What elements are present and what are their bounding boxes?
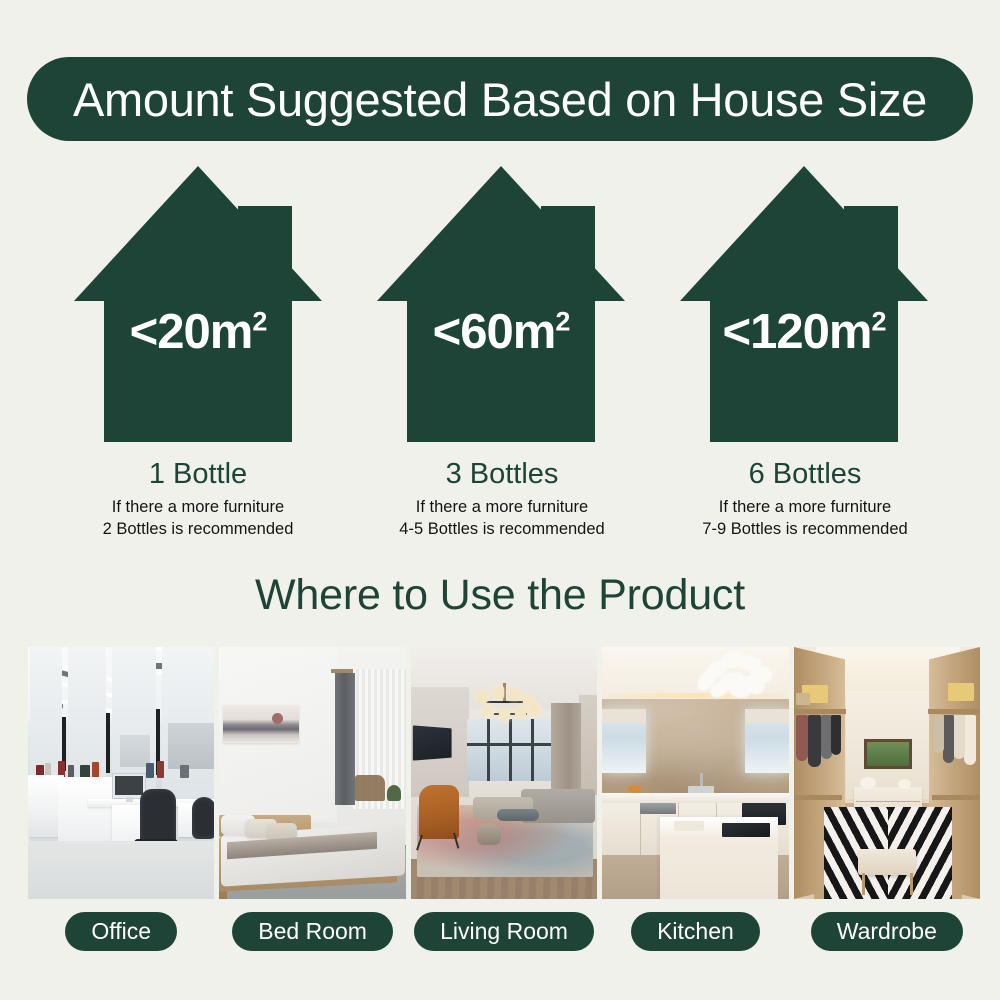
bottle-note-line2-2: 4-5 Bottles is recommended xyxy=(337,519,667,541)
room-label-cell-office: Office xyxy=(28,911,214,951)
room-pill-bedroom[interactable]: Bed Room xyxy=(232,912,393,951)
house-card-1: <20m2 xyxy=(42,160,354,460)
house-size-row: <20m2 <60m2 <120m2 xyxy=(0,160,1000,460)
page-title: Amount Suggested Based on House Size xyxy=(73,76,927,123)
office-photo xyxy=(28,647,214,899)
bottle-captions-row: 1 Bottle If there a more furniture 2 Bot… xyxy=(0,458,1000,548)
room-photo-strip xyxy=(28,647,980,899)
bottle-caption-3: 6 Bottles If there a more furniture 7-9 … xyxy=(640,458,970,541)
room-label-cell-bedroom: Bed Room xyxy=(219,911,405,951)
room-labels-row: Office Bed Room Living Room Kitchen Ward… xyxy=(28,911,980,951)
bottle-count-1: 1 Bottle xyxy=(33,458,363,491)
house-icon xyxy=(345,160,657,442)
bottle-note-line1-1: If there a more furniture xyxy=(33,497,363,519)
room-label-cell-kitchen: Kitchen xyxy=(602,911,788,951)
bottle-note-line1-2: If there a more furniture xyxy=(337,497,667,519)
bottle-count-2: 3 Bottles xyxy=(337,458,667,491)
house-area-exponent-2: 2 xyxy=(555,307,569,337)
bedroom-photo xyxy=(219,647,405,899)
room-label-cell-wardrobe: Wardrobe xyxy=(794,911,980,951)
house-area-exponent-3: 2 xyxy=(871,307,885,337)
usage-section-title: Where to Use the Product xyxy=(0,570,1000,622)
kitchen-photo xyxy=(602,647,788,899)
bottle-note-line1-3: If there a more furniture xyxy=(640,497,970,519)
bottle-caption-2: 3 Bottles If there a more furniture 4-5 … xyxy=(337,458,667,541)
house-icon xyxy=(42,160,354,442)
house-card-2: <60m2 xyxy=(345,160,657,460)
room-pill-office[interactable]: Office xyxy=(65,912,177,951)
livingroom-photo xyxy=(411,647,597,899)
bottle-note-line2-3: 7-9 Bottles is recommended xyxy=(640,519,970,541)
room-label-cell-livingroom: Living Room xyxy=(411,911,597,951)
house-area-value-2: <60m xyxy=(433,305,556,359)
wardrobe-photo xyxy=(794,647,980,899)
house-icon xyxy=(648,160,960,442)
bottle-count-3: 6 Bottles xyxy=(640,458,970,491)
room-pill-wardrobe[interactable]: Wardrobe xyxy=(811,912,963,951)
room-pill-livingroom[interactable]: Living Room xyxy=(414,912,594,951)
house-area-value-3: <120m xyxy=(723,305,872,359)
house-area-label-1: <20m2 xyxy=(42,308,354,357)
house-area-value-1: <20m xyxy=(130,305,253,359)
house-area-label-3: <120m2 xyxy=(648,308,960,357)
house-card-3: <120m2 xyxy=(648,160,960,460)
house-area-exponent-1: 2 xyxy=(252,307,266,337)
bottle-caption-1: 1 Bottle If there a more furniture 2 Bot… xyxy=(33,458,363,541)
infographic-page: Amount Suggested Based on House Size <20… xyxy=(0,0,1000,1000)
room-pill-kitchen[interactable]: Kitchen xyxy=(631,912,760,951)
bottle-note-line2-1: 2 Bottles is recommended xyxy=(33,519,363,541)
header-banner: Amount Suggested Based on House Size xyxy=(27,57,973,141)
house-area-label-2: <60m2 xyxy=(345,308,657,357)
